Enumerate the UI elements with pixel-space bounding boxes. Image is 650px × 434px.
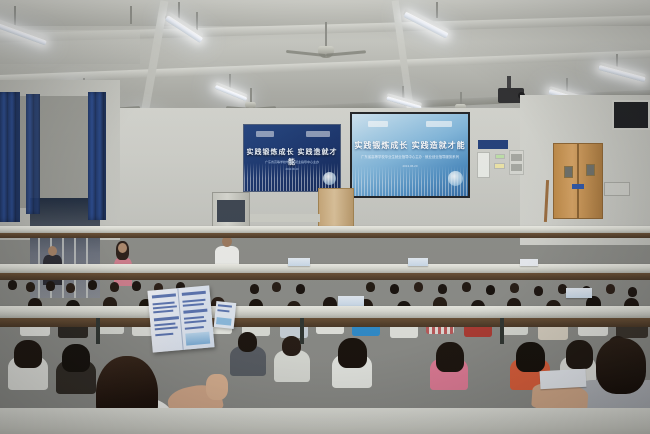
- wall-notice-1: [477, 152, 490, 178]
- standing-right-head: [118, 243, 127, 253]
- audience-head: [534, 286, 543, 296]
- upper-right-window: [612, 100, 650, 130]
- audience-head: [366, 282, 375, 292]
- audience-head: [132, 281, 141, 291]
- side-slide-logo-left: [256, 131, 274, 137]
- audience-head: [66, 283, 75, 293]
- speaker-body: [215, 246, 239, 266]
- audience-head: [438, 284, 447, 294]
- audience-head: [46, 281, 55, 291]
- audience-head: [272, 282, 281, 292]
- notice-board-header: [478, 140, 508, 149]
- lecture-hall-photo: 实践锻炼成长 实践造就才能 广东省高等学校毕业生就业指导中心主办 · 就业创业指…: [0, 0, 650, 434]
- wall-notice-3: [494, 163, 505, 169]
- audience-head: [238, 332, 257, 352]
- foreground-right-paper: [540, 369, 587, 389]
- foreground-desk-surface: [0, 408, 650, 434]
- side-slide-logo-right: [306, 131, 330, 137]
- door-window-right: [586, 164, 595, 176]
- foreground-reader-hand: [206, 374, 228, 400]
- brochure-image-block: [185, 332, 210, 346]
- audience-head: [88, 280, 97, 290]
- audience-head: [8, 280, 17, 290]
- audience-head: [26, 282, 35, 292]
- door-center-seam: [577, 143, 579, 219]
- secondary-brochure: [214, 301, 237, 329]
- desk-paper: [566, 288, 592, 298]
- audience-hair: [566, 340, 593, 369]
- slide-logo-left: [368, 121, 388, 127]
- curtain-left: [0, 92, 20, 222]
- audience-head: [606, 284, 615, 294]
- front-table: [250, 214, 320, 222]
- desk-leg: [500, 318, 504, 344]
- desk-paper: [408, 258, 428, 266]
- desk-leg: [96, 318, 100, 344]
- desk-paper: [338, 296, 364, 306]
- audience-head: [414, 282, 423, 292]
- main-slide-seal-icon: [448, 171, 463, 186]
- audience-head: [250, 284, 259, 294]
- main-slide-headline: 实践锻炼成长 实践造就才能: [352, 140, 468, 151]
- standing-left-head: [48, 246, 57, 256]
- desk-paper: [520, 259, 538, 266]
- desk-leg: [300, 318, 304, 344]
- wall-notice-2: [495, 154, 505, 159]
- wall-notice-6: [511, 164, 522, 171]
- audience-hair: [338, 338, 367, 368]
- audience-hair: [14, 340, 42, 368]
- podium-front-panel: [217, 200, 245, 222]
- desk-paper: [288, 258, 310, 266]
- audience-hair: [62, 344, 90, 372]
- side-projection-screen: 实践锻炼成长 实践造就才能 广东省高等学校毕业生就业指导中心主办 2013.06…: [243, 124, 341, 192]
- front-cabinet: [318, 188, 354, 228]
- audience-head: [390, 284, 399, 294]
- curtain-right: [88, 92, 106, 220]
- audience-head: [296, 284, 305, 294]
- door-window-left: [564, 166, 573, 178]
- main-projection-screen-frame: 实践锻炼成长 实践造就才能 广东省高等学校毕业生就业指导中心主办 · 就业创业指…: [350, 112, 470, 198]
- audience-head: [628, 287, 637, 297]
- curtain-middle: [26, 94, 40, 214]
- door-sign: [572, 184, 584, 189]
- slide-logo-right: [426, 121, 452, 127]
- audience-hair: [516, 342, 545, 372]
- main-slide-subheadline: 广东省高等学校毕业生就业指导中心主办 · 就业创业指导服务系列: [352, 154, 468, 159]
- audience-hair: [436, 342, 464, 372]
- left-window-frame: [12, 96, 94, 208]
- audience-head: [510, 283, 519, 293]
- main-projection-screen: 实践锻炼成长 实践造就才能 广东省高等学校毕业生就业指导中心主办 · 就业创业指…: [352, 114, 468, 196]
- wall-plaque: [604, 182, 630, 196]
- foreground-right-head: [596, 338, 646, 394]
- audience-head: [462, 282, 471, 292]
- audience-head: [282, 336, 301, 356]
- side-slide-seal-icon: [323, 172, 336, 185]
- audience-head: [110, 282, 119, 292]
- audience-head: [486, 285, 495, 295]
- wall-notice-5: [511, 154, 522, 161]
